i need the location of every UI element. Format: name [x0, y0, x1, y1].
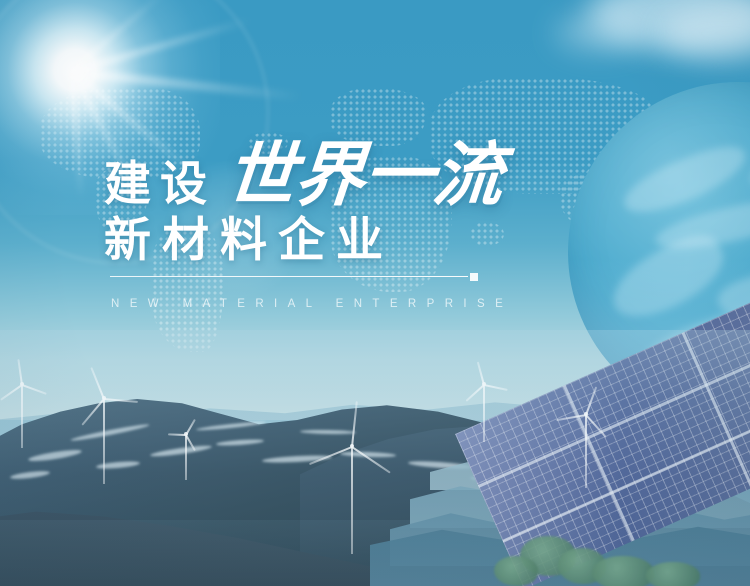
turbine-hub — [184, 432, 188, 436]
turbine-blade — [556, 414, 586, 421]
shrub — [646, 562, 700, 586]
wind-turbine — [165, 432, 207, 480]
turbine-mast — [185, 436, 187, 480]
turbine-hub — [102, 396, 106, 400]
turbine-blade — [81, 398, 104, 425]
turbine-blade — [104, 398, 138, 403]
turbine-hub — [584, 412, 588, 416]
turbine-blade — [0, 384, 22, 401]
turbine-mast — [585, 416, 587, 488]
turbine-blade — [351, 446, 390, 473]
headline-line-2: 新材料企业 — [104, 216, 524, 263]
turbine-hub — [20, 382, 24, 386]
divider-line — [110, 276, 468, 277]
wind-turbine — [553, 412, 619, 488]
cloud — [555, 14, 645, 52]
wind-turbine — [67, 396, 141, 484]
turbine-blade — [484, 384, 508, 391]
subtitle: NEW MATERIAL ENTERPRISE — [111, 298, 513, 310]
wind-turbine — [457, 382, 511, 442]
divider — [110, 273, 478, 281]
turbine-hub — [350, 444, 354, 448]
headline-prefix: 建设 — [104, 160, 216, 210]
turbine-blade — [22, 384, 47, 395]
divider-end-square — [470, 273, 478, 281]
turbine-hub — [482, 382, 486, 386]
turbine-mast — [21, 386, 23, 448]
turbine-mast — [483, 386, 485, 442]
wind-turbine — [0, 382, 51, 448]
headline-block: 建设 世界一流 新材料企业 — [104, 132, 524, 263]
hero-banner: 建设 世界一流 新材料企业 NEW MATERIAL ENTERPRISE — [0, 0, 750, 586]
turbine-blade — [585, 414, 607, 438]
turbine-blade — [309, 446, 352, 465]
turbine-blade — [465, 384, 484, 402]
shrub — [494, 556, 538, 586]
wind-turbine — [303, 444, 401, 554]
headline-emphasis: 世界一流 — [223, 140, 505, 210]
shrub — [592, 556, 654, 586]
turbine-mast — [351, 448, 353, 554]
turbine-mast — [103, 400, 105, 484]
headline-line-1: 建设 世界一流 — [104, 132, 524, 210]
